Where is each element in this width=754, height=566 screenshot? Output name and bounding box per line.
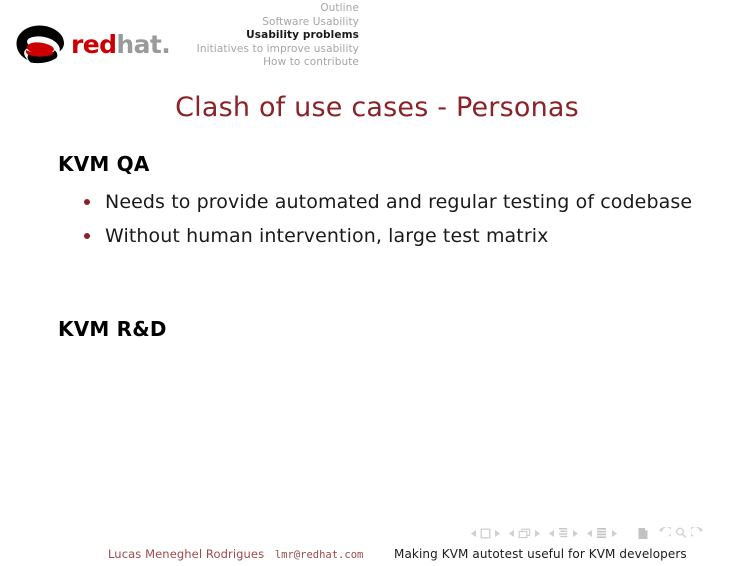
block-heading-kvm-rd: KVM R&D (0, 317, 754, 341)
forward-arrow-icon[interactable] (691, 527, 704, 539)
frame-navigation-group[interactable] (508, 528, 541, 539)
slide-body: KVM QA Needs to provide automated and re… (0, 152, 754, 350)
block-kvm-qa: KVM QA Needs to provide automated and re… (0, 152, 754, 253)
back-arrow-icon[interactable] (658, 527, 671, 539)
section-navigation: Outline Software Usability Usability pro… (29, 2, 359, 70)
footer-presentation-title: Making KVM autotest useful for KVM devel… (394, 547, 687, 561)
previous-subsection-icon[interactable] (548, 529, 555, 538)
footer-author: Lucas Meneghel Rodrigues (108, 547, 264, 561)
square-icon[interactable] (480, 528, 491, 539)
slide-title: Clash of use cases - Personas (0, 92, 754, 123)
nav-item-software-usability[interactable]: Software Usability (29, 16, 359, 30)
document-icon[interactable] (637, 527, 649, 540)
beamer-navigation-bar[interactable] (470, 524, 750, 542)
list-item: Without human intervention, large test m… (0, 219, 754, 253)
subsection-navigation-group[interactable] (548, 527, 579, 539)
subsection-icon[interactable] (558, 527, 569, 539)
next-subsection-icon[interactable] (572, 529, 579, 538)
nav-item-usability-problems[interactable]: Usability problems (29, 29, 359, 43)
section-navigation-group[interactable] (586, 527, 618, 539)
slide-navigation-group[interactable] (470, 528, 501, 539)
list-item: Needs to provide automated and regular t… (0, 185, 754, 219)
block-kvm-rd: KVM R&D (0, 317, 754, 341)
stacked-squares-icon[interactable] (518, 528, 531, 539)
footer-author-block: Lucas Meneghel Rodrigues lmr@redhat.com (108, 547, 363, 561)
nav-item-how-to-contribute[interactable]: How to contribute (29, 56, 359, 70)
next-slide-icon[interactable] (494, 529, 501, 538)
slide-header: redhat. Outline Software Usability Usabi… (0, 0, 754, 78)
bullet-list-kvm-qa: Needs to provide automated and regular t… (0, 185, 754, 253)
bullet-dot-icon (84, 233, 90, 239)
previous-frame-icon[interactable] (508, 529, 515, 538)
previous-section-icon[interactable] (586, 529, 593, 538)
section-icon[interactable] (596, 527, 608, 539)
nav-item-outline[interactable]: Outline (29, 2, 359, 16)
next-frame-icon[interactable] (534, 529, 541, 538)
nav-item-initiatives-to-improve-usability[interactable]: Initiatives to improve usability (29, 43, 359, 57)
next-section-icon[interactable] (611, 529, 618, 538)
bullet-dot-icon (84, 199, 90, 205)
previous-slide-icon[interactable] (470, 529, 477, 538)
list-item-label: Without human intervention, large test m… (105, 225, 549, 247)
block-heading-kvm-qa: KVM QA (0, 152, 754, 176)
search-icon[interactable] (675, 527, 687, 539)
slide-footer: Lucas Meneghel Rodrigues lmr@redhat.com … (0, 546, 754, 566)
presentation-slide: redhat. Outline Software Usability Usabi… (0, 0, 754, 566)
document-navigation[interactable] (637, 527, 649, 540)
list-item-label: Needs to provide automated and regular t… (105, 191, 692, 213)
footer-email[interactable]: lmr@redhat.com (275, 549, 364, 561)
back-search-forward-group[interactable] (658, 527, 704, 539)
